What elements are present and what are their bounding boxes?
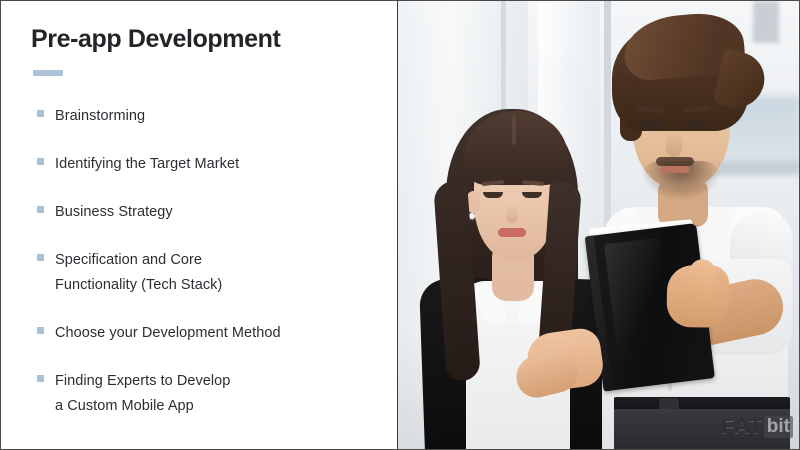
list-item-label: Specification and Core: [55, 248, 397, 273]
photo-panel: FAT bit TECHNOLOGIES: [398, 1, 800, 450]
list-item-label: Choose your Development Method: [55, 321, 397, 346]
list-item-label: Business Strategy: [55, 200, 397, 225]
bullet-square-icon: [37, 375, 44, 382]
list-item: Finding Experts to Develop a Custom Mobi…: [1, 369, 397, 419]
bullet-square-icon: [37, 110, 44, 117]
man-eye-right: [684, 121, 707, 128]
watermark-tagline: TECHNOLOGIES: [699, 440, 791, 446]
document-folder: [585, 223, 719, 394]
woman-hair-part: [512, 115, 516, 145]
title-accent-rule: [33, 70, 63, 76]
list-item-label: Finding Experts to Develop: [55, 369, 397, 394]
woman-eye-left: [483, 192, 503, 198]
man-lips: [660, 166, 690, 173]
slide-canvas: Pre-app Development Brainstorming Identi…: [0, 0, 800, 450]
page-title: Pre-app Development: [31, 25, 280, 54]
panel-divider: [397, 1, 398, 449]
list-item: Choose your Development Method: [1, 321, 397, 346]
bullet-square-icon: [37, 254, 44, 261]
list-item-label-line2: a Custom Mobile App: [55, 394, 397, 419]
list-item: Business Strategy: [1, 200, 397, 225]
watermark-logo: FAT bit TECHNOLOGIES: [699, 415, 793, 446]
list-item-label: Identifying the Target Market: [55, 152, 397, 177]
man-moustache: [656, 157, 694, 166]
text-panel: Pre-app Development Brainstorming Identi…: [1, 1, 397, 449]
list-item-label-line2: Functionality (Tech Stack): [55, 273, 397, 298]
list-item-label: Brainstorming: [55, 104, 397, 129]
list-item: Brainstorming: [1, 104, 397, 129]
bullet-square-icon: [37, 327, 44, 334]
bullet-list: Brainstorming Identifying the Target Mar…: [1, 104, 397, 442]
watermark-brand-secondary: bit: [764, 416, 793, 438]
man-eye-left: [639, 121, 662, 128]
list-item: Identifying the Target Market: [1, 152, 397, 177]
woman-nose: [506, 203, 518, 223]
list-item: Specification and Core Functionality (Te…: [1, 248, 397, 298]
watermark-brand-row: FAT bit: [699, 415, 793, 439]
woman-eye-right: [522, 192, 542, 198]
woman-lips: [498, 228, 526, 237]
man-nose: [666, 129, 682, 157]
bullet-square-icon: [37, 206, 44, 213]
bullet-square-icon: [37, 158, 44, 165]
woman-earring: [469, 213, 475, 219]
watermark-brand-primary: FAT: [722, 415, 763, 439]
